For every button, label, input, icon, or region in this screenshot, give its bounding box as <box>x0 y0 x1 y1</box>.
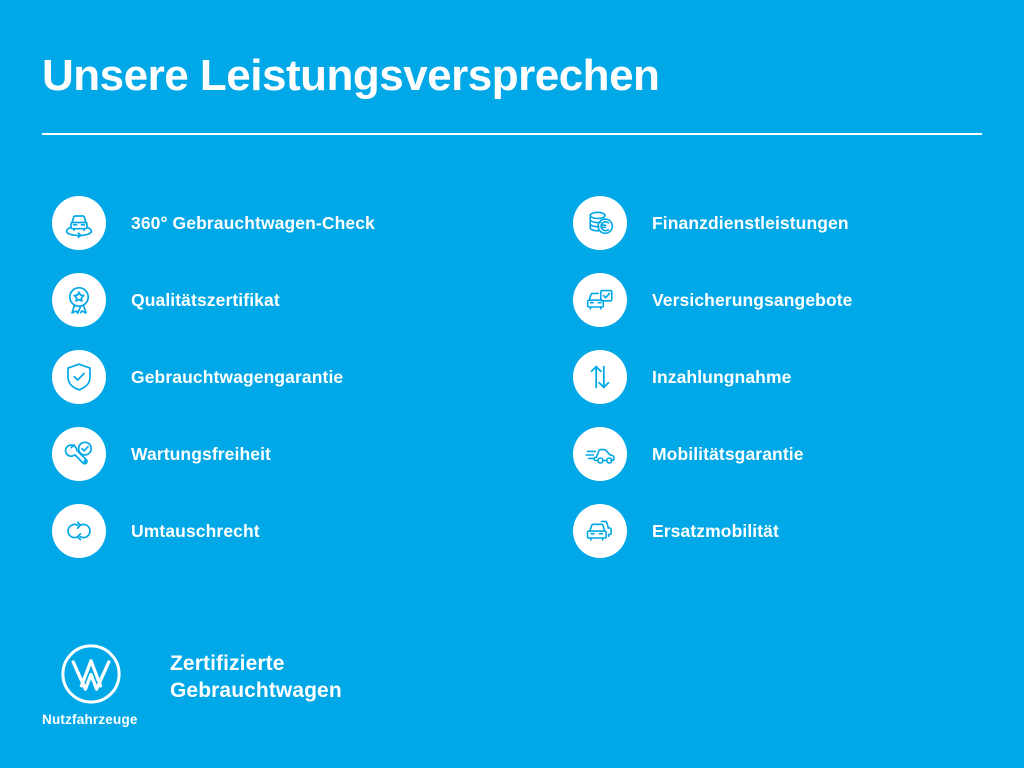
promise-label: Versicherungsangebote <box>652 273 853 327</box>
car-checklist-icon <box>573 273 627 327</box>
promise-item-ersatzmobilitaet[interactable]: Ersatzmobilität <box>573 504 1024 581</box>
two-cars-icon <box>573 504 627 558</box>
promise-item-umtauschrecht[interactable]: Umtauschrecht <box>52 504 512 581</box>
promise-label: Finanzdienstleistungen <box>652 196 849 250</box>
brand-claim: Zertifizierte Gebrauchtwagen <box>170 650 342 704</box>
promise-label: Mobilitätsgarantie <box>652 427 804 481</box>
promise-label: Ersatzmobilität <box>652 504 779 558</box>
award-ribbon-icon <box>52 273 106 327</box>
page-title: Unsere Leistungsversprechen <box>42 50 982 102</box>
shield-check-icon <box>52 350 106 404</box>
promise-item-wartungsfreiheit[interactable]: Wartungsfreiheit <box>52 427 512 504</box>
car-speed-icon <box>573 427 627 481</box>
promise-item-mobilitaetsgarantie[interactable]: Mobilitätsgarantie <box>573 427 1024 504</box>
promise-label: 360° Gebrauchtwagen-Check <box>131 196 375 250</box>
exchange-arrows-icon <box>52 504 106 558</box>
promise-item-qualitaetszertifikat[interactable]: Qualitätszertifikat <box>52 273 512 350</box>
promise-label: Qualitätszertifikat <box>131 273 280 327</box>
arrows-up-down-icon <box>573 350 627 404</box>
promise-label: Umtauschrecht <box>131 504 260 558</box>
slide-root: Unsere Leistungsversprechen 360° Gebrauc… <box>0 0 1024 768</box>
promise-item-gebrauchtwagengarantie[interactable]: Gebrauchtwagengarantie <box>52 350 512 427</box>
promise-item-360-check[interactable]: 360° Gebrauchtwagen-Check <box>52 196 512 273</box>
coins-euro-icon <box>573 196 627 250</box>
brand-lockup: Nutzfahrzeuge Zertifizierte Gebrauchtwag… <box>42 638 562 738</box>
promise-item-inzahlungnahme[interactable]: Inzahlungnahme <box>573 350 1024 427</box>
promises-right-column: Finanzdienstleistungen Versicherungsange… <box>573 196 1024 581</box>
brand-claim-line-2: Gebrauchtwagen <box>170 677 342 704</box>
promise-label: Gebrauchtwagengarantie <box>131 350 343 404</box>
promise-label: Wartungsfreiheit <box>131 427 271 481</box>
volkswagen-logo <box>60 643 122 705</box>
promises-left-column: 360° Gebrauchtwagen-Check Qualitätszerti… <box>52 196 512 581</box>
vw-sub-brand-label: Nutzfahrzeuge <box>42 712 138 727</box>
brand-claim-line-1: Zertifizierte <box>170 650 342 677</box>
title-divider <box>42 133 982 135</box>
wrench-check-icon <box>52 427 106 481</box>
promise-item-versicherungsangebote[interactable]: Versicherungsangebote <box>573 273 1024 350</box>
car-360-check-icon <box>52 196 106 250</box>
promise-item-finanzdienstleistungen[interactable]: Finanzdienstleistungen <box>573 196 1024 273</box>
promises-grid: 360° Gebrauchtwagen-Check Qualitätszerti… <box>0 196 1024 576</box>
promise-label: Inzahlungnahme <box>652 350 791 404</box>
